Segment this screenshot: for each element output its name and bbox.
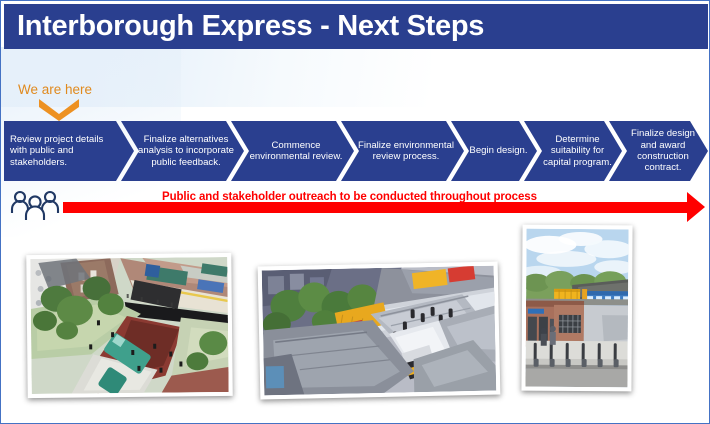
photo-station-entrance[interactable] xyxy=(521,225,632,392)
process-step-4[interactable]: Finalize environmental review process. xyxy=(357,121,455,181)
page-title: Interborough Express - Next Steps xyxy=(17,10,484,43)
process-step-5[interactable]: Begin design. xyxy=(467,121,530,181)
we-are-here-label: We are here xyxy=(18,82,92,97)
process-step-6-label: Determine suitability for capital progra… xyxy=(540,134,615,168)
title-bar: Interborough Express - Next Steps xyxy=(4,4,708,49)
slide-canvas: Interborough Express - Next Steps We are… xyxy=(0,0,710,424)
process-step-1[interactable]: Review project details with public and s… xyxy=(4,121,122,181)
photo-aerial-trains[interactable] xyxy=(26,253,232,398)
process-chevron-band: Review project details with public and s… xyxy=(4,121,708,181)
process-step-3[interactable]: Commence environmental review. xyxy=(247,121,345,181)
outreach-label: Public and stakeholder outreach to be co… xyxy=(162,191,537,203)
photo-station-platform[interactable] xyxy=(258,262,501,400)
process-step-1-label: Review project details with public and s… xyxy=(4,134,122,168)
process-step-5-label: Begin design. xyxy=(467,145,530,156)
process-step-6[interactable]: Determine suitability for capital progra… xyxy=(540,121,615,181)
photo-station-platform-image xyxy=(262,266,497,396)
process-step-3-label: Commence environmental review. xyxy=(247,140,345,163)
process-step-2-label: Finalize alternatives analysis to incorp… xyxy=(137,134,235,168)
chevron-down-icon xyxy=(37,97,81,121)
photo-aerial-trains-image xyxy=(30,257,228,394)
process-step-4-label: Finalize environmental review process. xyxy=(357,140,455,163)
process-step-2[interactable]: Finalize alternatives analysis to incorp… xyxy=(137,121,235,181)
people-group-icon xyxy=(9,189,61,223)
outreach-arrow-shaft xyxy=(63,202,695,213)
photo-station-entrance-image xyxy=(525,229,628,388)
process-step-7-label: Finalize design and award construction c… xyxy=(625,128,701,174)
arrow-right-icon xyxy=(687,192,705,222)
process-step-7[interactable]: Finalize design and award construction c… xyxy=(625,121,701,181)
